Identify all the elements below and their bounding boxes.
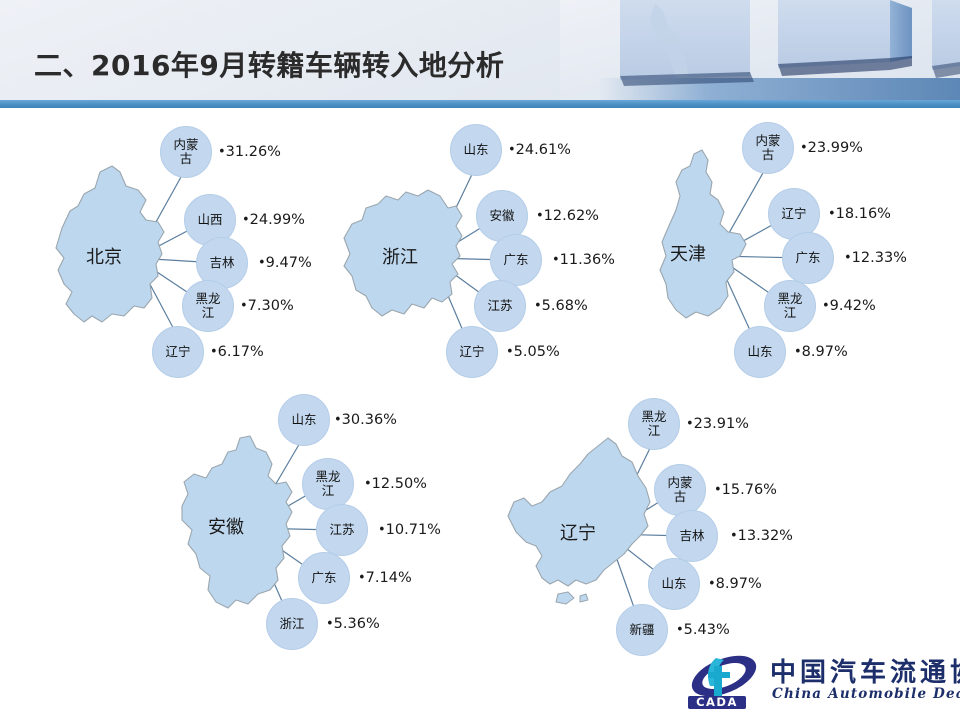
bullet-icon: • [242,213,250,228]
value-anhui-1: •12.50% [364,476,427,492]
node-label: 内蒙古 [751,134,785,162]
bullet-icon: • [508,143,516,158]
node-beijing-4[interactable]: 辽宁 [152,326,204,378]
node-label: 辽宁 [163,345,193,359]
node-label: 黑龙江 [637,410,671,438]
liaoning-map-shape [508,438,650,586]
node-label: 山西 [195,213,225,227]
cluster-anhui: 安徽 山东 •30.36% 黑龙江 •12.50% 江苏 •10.71% 广东 … [136,378,476,668]
bullet-icon: • [358,571,366,586]
node-label: 浙江 [277,617,307,631]
node-liaoning-4[interactable]: 新疆 [616,604,668,656]
value-liaoning-0: •23.91% [686,416,749,432]
value-zhejiang-0: •24.61% [508,142,571,158]
zhejiang-map-shape [344,190,462,316]
bullet-icon: • [326,617,334,632]
value-tianjin-2: •12.33% [844,250,907,266]
bullet-icon: • [378,523,386,538]
bullet-icon: • [218,145,226,160]
value-tianjin-4: •8.97% [794,344,848,360]
bullet-icon: • [364,477,372,492]
node-label: 新疆 [627,623,657,637]
node-label: 山东 [659,577,689,591]
bullet-icon: • [714,483,722,498]
value-tianjin-1: •18.16% [828,206,891,222]
node-label: 广东 [309,571,339,585]
node-label: 黑龙江 [773,292,807,320]
node-liaoning-0[interactable]: 黑龙江 [628,398,680,450]
value-liaoning-1: •15.76% [714,482,777,498]
node-tianjin-3[interactable]: 黑龙江 [764,280,816,332]
node-label: 广东 [501,253,531,267]
value-zhejiang-2: •11.36% [552,252,615,268]
bullet-icon: • [708,577,716,592]
bullet-icon: • [800,141,808,156]
node-label: 广东 [793,251,823,265]
value-anhui-3: •7.14% [358,570,412,586]
bullet-icon: • [334,413,342,428]
anhui-map-shape [182,436,292,608]
value-tianjin-3: •9.42% [822,298,876,314]
svg-text:CADA: CADA [696,695,738,709]
node-label: 江苏 [485,299,515,313]
value-zhejiang-1: •12.62% [536,208,599,224]
bullet-icon: • [822,299,830,314]
value-anhui-2: •10.71% [378,522,441,538]
value-beijing-0: •31.26% [218,144,281,160]
bullet-icon: • [506,345,514,360]
logo-name-cn: 中国汽车流通协会 [770,652,960,689]
value-zhejiang-3: •5.68% [534,298,588,314]
header-accent-bar [0,100,960,108]
bullet-icon: • [844,251,852,266]
node-label: 内蒙古 [169,138,203,166]
bullet-icon: • [552,253,560,268]
value-liaoning-4: •5.43% [676,622,730,638]
node-beijing-0[interactable]: 内蒙古 [160,126,212,178]
bullet-icon: • [240,299,248,314]
value-liaoning-3: •8.97% [708,576,762,592]
beijing-map-shape [56,166,164,322]
value-anhui-0: •30.36% [334,412,397,428]
node-zhejiang-0[interactable]: 山东 [450,124,502,176]
value-zhejiang-4: •5.05% [506,344,560,360]
node-anhui-3[interactable]: 广东 [298,552,350,604]
node-label: 辽宁 [779,207,809,221]
bullet-icon: • [794,345,802,360]
cluster-beijing: 北京 内蒙古 •31.26% 山西 •24.99% 吉林 •9.47% 黑龙江 … [0,108,330,398]
cluster-tianjin: 天津 内蒙古 •23.99% 辽宁 •18.16% 广东 •12.33% 黑龙江… [616,108,960,398]
node-beijing-3[interactable]: 黑龙江 [182,280,234,332]
value-liaoning-2: •13.32% [730,528,793,544]
value-tianjin-0: •23.99% [800,140,863,156]
node-liaoning-1[interactable]: 内蒙古 [654,464,706,516]
value-beijing-3: •7.30% [240,298,294,314]
cluster-liaoning: 辽宁 黑龙江 •23.91% 内蒙古 •15.76% 吉林 •13.32% 山东… [480,366,830,666]
value-anhui-4: •5.36% [326,616,380,632]
node-label: 辽宁 [457,345,487,359]
liaoning-islands-shape [556,592,588,604]
page-title: 二、2016年9月转籍车辆转入地分析 [34,44,504,84]
node-tianjin-2[interactable]: 广东 [782,232,834,284]
bullet-icon: • [210,345,218,360]
diagram-canvas: 北京 内蒙古 •31.26% 山西 •24.99% 吉林 •9.47% 黑龙江 … [0,108,960,720]
value-beijing-4: •6.17% [210,344,264,360]
node-label: 安徽 [487,209,517,223]
node-zhejiang-3[interactable]: 江苏 [474,280,526,332]
node-label: 吉林 [677,529,707,543]
bullet-icon: • [258,256,266,271]
node-label: 内蒙古 [663,476,697,504]
cada-logo-icon: CADA [686,652,764,710]
bullet-icon: • [730,529,738,544]
node-anhui-1[interactable]: 黑龙江 [302,458,354,510]
value-beijing-1: •24.99% [242,212,305,228]
cluster-zhejiang: 浙江 山东 •24.61% 安徽 •12.62% 广东 •11.36% 江苏 •… [300,108,630,398]
cada-logo: CADA 中国汽车流通协会 China Automobile Dealers A… [686,648,954,714]
node-zhejiang-2[interactable]: 广东 [490,234,542,286]
bullet-icon: • [534,299,542,314]
bullet-icon: • [686,417,694,432]
bullet-icon: • [828,207,836,222]
node-label: 黑龙江 [311,470,345,498]
node-label: 江苏 [327,523,357,537]
node-anhui-0[interactable]: 山东 [278,394,330,446]
node-label: 吉林 [207,256,237,270]
node-tianjin-0[interactable]: 内蒙古 [742,122,794,174]
page-header: 二、2016年9月转籍车辆转入地分析 [0,0,960,100]
header-decoration-cubes [560,0,960,100]
node-liaoning-2[interactable]: 吉林 [666,510,718,562]
node-anhui-4[interactable]: 浙江 [266,598,318,650]
node-label: 山东 [289,413,319,427]
bullet-icon: • [676,623,684,638]
node-liaoning-3[interactable]: 山东 [648,558,700,610]
logo-name-en: China Automobile Dealers Association [772,686,960,702]
node-label: 山东 [461,143,491,157]
node-anhui-2[interactable]: 江苏 [316,504,368,556]
node-label: 山东 [745,345,775,359]
bullet-icon: • [536,209,544,224]
node-label: 黑龙江 [191,292,225,320]
